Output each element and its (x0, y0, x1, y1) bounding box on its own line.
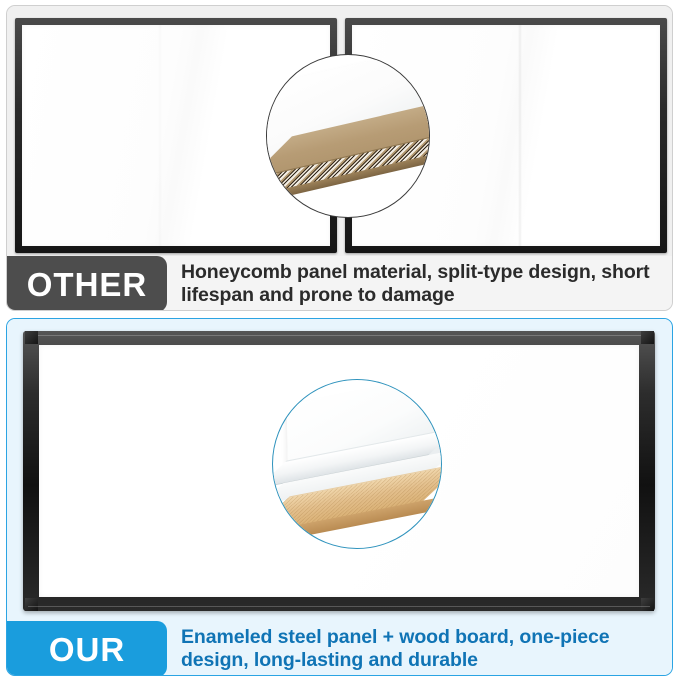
comparison-card-our: OUR Enameled steel panel + wood board, o… (6, 318, 673, 676)
frame-corner-top-right (641, 331, 654, 344)
panel-seam (158, 25, 162, 246)
honeycomb-detail-magnifier-icon (266, 54, 430, 218)
steel-wood-detail-magnifier-icon (272, 379, 442, 549)
frame-corner-top-left (25, 331, 38, 344)
our-caption-band: OUR Enameled steel panel + wood board, o… (7, 621, 673, 676)
comparison-card-other: OTHER Honeycomb panel material, split-ty… (6, 5, 673, 311)
frame-corner-bottom-right (641, 598, 654, 611)
our-product-photo (7, 319, 671, 621)
other-caption-band: OTHER Honeycomb panel material, split-ty… (7, 256, 673, 311)
frame-corner-bottom-left (25, 598, 38, 611)
other-product-photo (7, 6, 673, 256)
other-description: Honeycomb panel material, split-type des… (167, 256, 673, 311)
our-badge: OUR (7, 621, 167, 676)
our-description: Enameled steel panel + wood board, one-p… (167, 621, 673, 676)
other-badge: OTHER (7, 256, 167, 311)
panel-seam (518, 25, 522, 246)
